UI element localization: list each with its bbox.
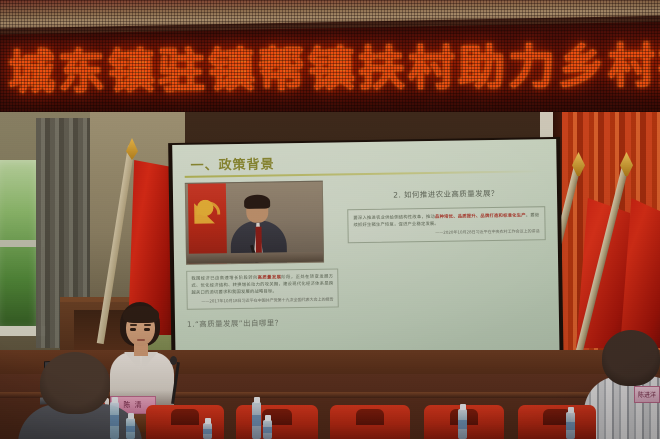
slide-left-paragraph: 我国经济已由高速增长阶段转向高质量发展阶段，正处在转变发展方式、优化经济结构、转… [191,274,333,297]
slide: 一、政策背景 [172,139,560,377]
slide-right-text-1: 要深入推进农业供给侧结构性改革，推动 [353,215,435,221]
attendee-right-head [602,330,660,386]
slide-left-attribution: ——2017年10月18日习近平在中国共产党第十九次全国代表大会上的报告 [192,297,334,306]
photo-desk [187,252,324,264]
water-bottle [110,402,119,439]
slide-left-highlight: 高质量发展 [258,275,282,280]
photo-person-hair [244,195,270,209]
chair [146,405,224,439]
chair [236,405,318,439]
chair [330,405,410,439]
attendee-front-right [590,330,660,439]
slide-right-attribution: ——2020年10月28日习近平在中央农村工作会议上的讲话 [354,228,540,237]
presenter-hair-front [123,306,159,323]
slide-right-highlight: 品种培优、品质提升、品牌打造和标准化生产 [435,213,526,219]
conference-room-photo: 城东镇驻镇帮镇扶村助力乡村振兴专题 一、政策背景 [0,0,660,439]
slide-left-quote-block: 我国经济已由高速增长阶段转向高质量发展阶段，正处在转变发展方式、优化经济结构、转… [186,268,339,309]
presenter-brow-left [130,324,137,326]
presenter-mouth [137,339,145,341]
photo-person-tie [255,227,261,253]
microphone-icon [170,356,177,365]
hammer-sickle-icon [194,197,216,223]
water-bottle [252,402,261,439]
slide-left-question: 1.“高质量发展”出自哪里？ [187,316,339,329]
chair [518,405,596,439]
slide-left-column: 我国经济已由高速增长阶段转向高质量发展阶段，正处在转变发展方式、优化经济结构、转… [185,180,340,364]
slide-right-column: 2. 如何推进农业高质量发展？ 要深入推进农业供给侧结构性改革，推动品种培优、品… [347,177,548,362]
presenter-eye-right [144,328,150,331]
led-banner: 城东镇驻镇帮镇扶村助力乡村振兴专题 [0,0,660,118]
slide-right-paragraph: 要深入推进农业供给侧结构性改革，推动品种培优、品质提升、品牌打造和标准化生产。要… [353,212,539,229]
slide-left-text-1: 我国经济已由高速增长阶段转向 [191,276,257,282]
slide-right-quote-block: 要深入推进农业供给侧结构性改革，推动品种培优、品质提升、品牌打造和标准化生产。要… [347,206,546,243]
slide-right-question: 2. 如何推进农业高质量发展？ [347,187,545,201]
attendee-front-left [18,352,138,439]
led-banner-text: 城东镇驻镇帮镇扶村助力乡村振兴专题 [8,38,660,101]
projection-screen: 一、政策背景 [172,139,560,377]
water-bottle [203,423,212,439]
attendee-left-head [40,352,110,414]
slide-body: 我国经济已由高速增长阶段转向高质量发展阶段，正处在转变发展方式、优化经济结构、转… [185,177,548,365]
water-bottle [263,420,272,439]
presenter-brow-right [144,324,151,326]
slide-speaker-photo [185,181,324,265]
water-bottle [126,418,135,439]
attendee-nameplate: 陈进洋 [634,386,660,403]
presenter-eye-left [130,328,136,331]
water-bottle [566,412,575,439]
water-bottle [458,409,467,439]
